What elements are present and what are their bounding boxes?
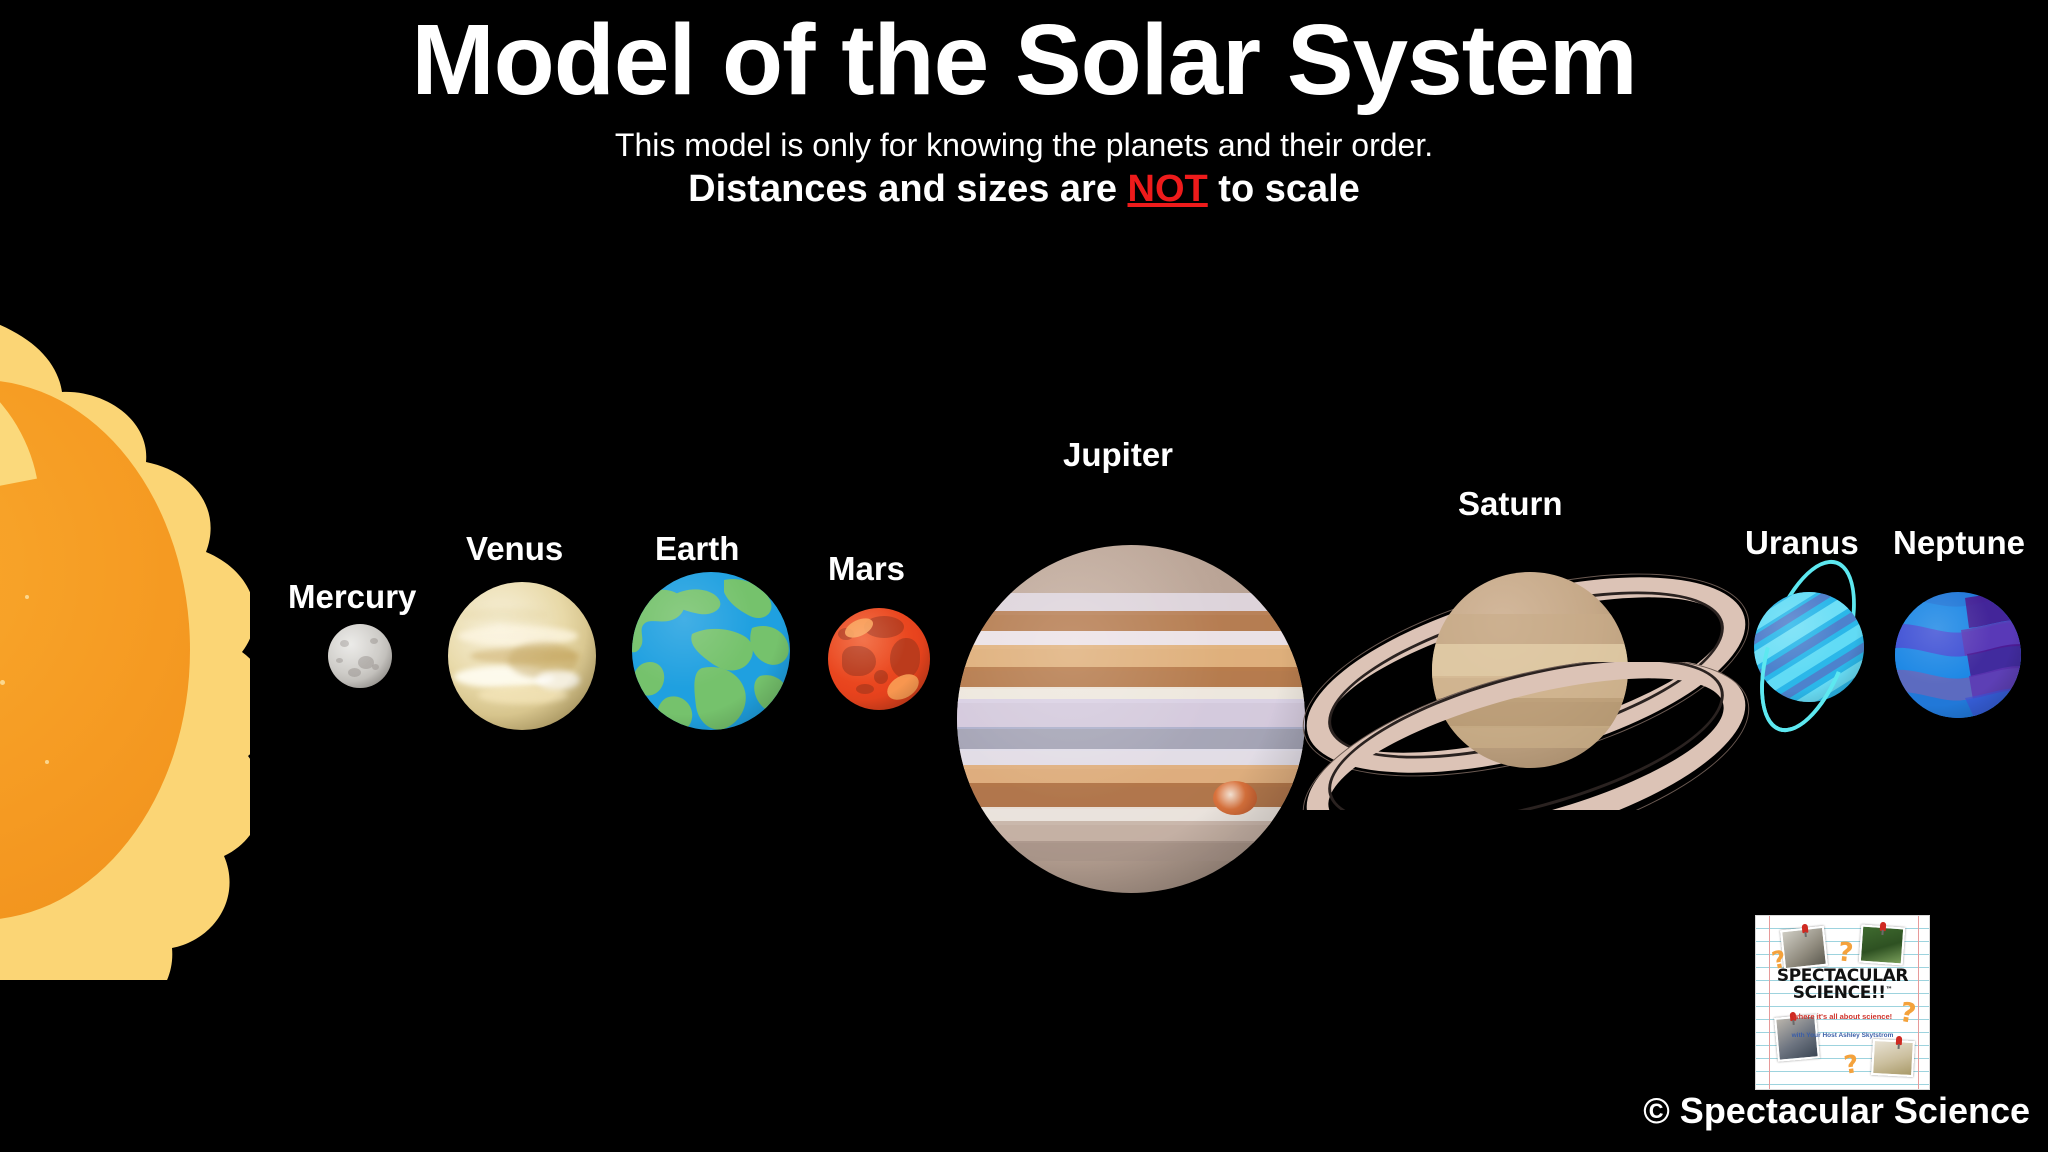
sun-fleck <box>45 760 49 764</box>
label-earth: Earth <box>655 530 739 568</box>
planet-venus <box>448 582 596 730</box>
planet-neptune <box>1895 592 2021 718</box>
planet-saturn <box>1296 540 1756 810</box>
planet-mars <box>828 608 930 710</box>
logo-pin <box>1880 922 1887 931</box>
subtitle-prefix: Distances and sizes are <box>688 168 1127 210</box>
not-emphasis: NOT <box>1128 168 1208 210</box>
label-mercury: Mercury <box>288 578 416 616</box>
sun-fleck <box>25 595 29 599</box>
sun-graphic: Sun <box>0 320 250 980</box>
neptune-bands-icon <box>1895 592 2021 718</box>
label-jupiter: Jupiter <box>1063 436 1173 474</box>
mercury-limb-shading <box>328 624 392 688</box>
subtitle-line-2: Distances and sizes are NOT to scale <box>0 168 2048 211</box>
trademark-icon: ™ <box>1886 986 1893 994</box>
page-title: Model of the Solar System <box>0 0 2048 113</box>
logo-title: SPECTACULAR SCIENCE!!™ <box>1756 968 1929 1003</box>
saturn-body <box>1432 572 1628 768</box>
logo-title-line-2: SCIENCE!!™ <box>1756 985 1929 1002</box>
sun-fleck <box>0 680 5 685</box>
header: Model of the Solar System This model is … <box>0 0 2048 211</box>
label-venus: Venus <box>466 530 563 568</box>
copyright-notice: © Spectacular Science <box>1643 1090 2030 1132</box>
sun-swirl <box>0 380 104 739</box>
subtitle-suffix: to scale <box>1208 168 1360 210</box>
planet-uranus <box>1746 556 1872 736</box>
planet-jupiter <box>957 545 1305 893</box>
planet-earth <box>632 572 790 730</box>
logo-watermark[interactable]: ? ? ? ? SPECTACULAR SCIENCE!!™ where it'… <box>1755 915 1930 1090</box>
great-red-spot <box>1213 781 1257 815</box>
question-mark-icon: ? <box>1842 1049 1860 1080</box>
label-mars: Mars <box>828 550 905 588</box>
logo-tagline: where it's all about science! <box>1756 1012 1929 1021</box>
label-saturn: Saturn <box>1458 485 1563 523</box>
logo-pin <box>1802 924 1809 934</box>
logo-host: with Your Host Ashley Skytstrom <box>1756 1032 1929 1039</box>
subtitle-line-1: This model is only for knowing the plane… <box>0 127 2048 164</box>
label-neptune: Neptune <box>1893 524 2025 562</box>
logo-photo <box>1871 1039 1915 1077</box>
planet-mercury <box>328 624 392 688</box>
earth-continents-icon <box>632 572 790 730</box>
question-mark-icon: ? <box>1836 937 1854 968</box>
